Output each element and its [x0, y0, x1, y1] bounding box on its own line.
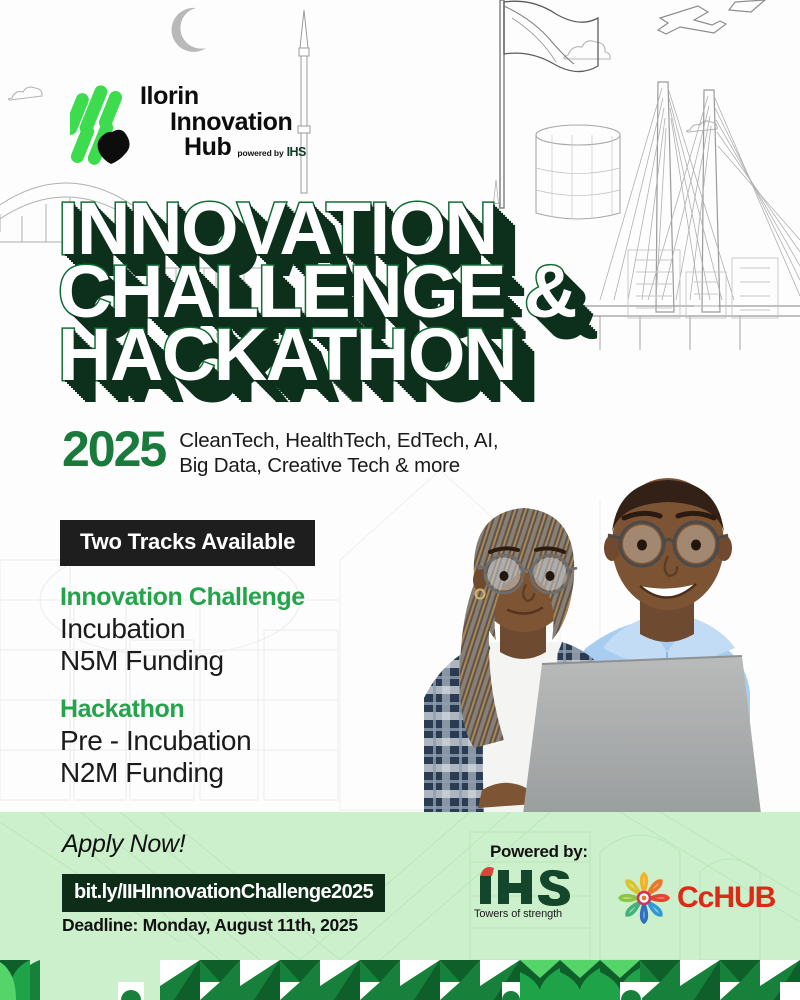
- city-buildings-line-art: [628, 250, 778, 318]
- track-stage: Pre - Incubation: [60, 725, 315, 758]
- logo-line-3: Hub: [184, 135, 231, 161]
- year-and-tagline: 2025 CleanTech, HealthTech, EdTech, AI, …: [62, 424, 498, 478]
- poster-canvas: Ilorin Innovation Hub powered by IHS INN…: [0, 0, 800, 1000]
- event-categories: CleanTech, HealthTech, EdTech, AI, Big D…: [179, 428, 498, 478]
- bottom-geometric-pattern: [0, 960, 800, 1000]
- ihs-logo: Towers of strength: [474, 866, 586, 920]
- ilorin-innovation-hub-mark-icon: [70, 82, 132, 174]
- event-year: 2025: [62, 424, 165, 474]
- laptop-icon: [522, 656, 762, 822]
- logo-powered-label: powered by: [237, 148, 283, 158]
- tracks-badge: Two Tracks Available: [60, 520, 315, 566]
- bridge-line-art: [556, 82, 800, 350]
- track-funding: N2M Funding: [60, 757, 315, 790]
- ihs-tagline: Towers of strength: [474, 908, 586, 920]
- cchub-flower-icon: [616, 872, 672, 924]
- powered-by-label: Powered by:: [490, 842, 588, 862]
- track-stage: Incubation: [60, 613, 315, 646]
- page-title: INNOVATION CHALLENGE & HACKATHON: [58, 196, 576, 387]
- brand-logo: Ilorin Innovation Hub powered by IHS: [70, 82, 306, 174]
- crescent-moon-icon: [172, 8, 206, 52]
- cchub-wordmark: CcHUB: [677, 881, 775, 915]
- logo-line-2: Innovation: [170, 110, 306, 136]
- cchub-logo: CcHUB: [616, 872, 775, 924]
- logo-powered-brand: IHS: [287, 145, 306, 159]
- headline-line-3: HACKATHON: [58, 322, 576, 387]
- track-name: Hackathon: [60, 695, 315, 725]
- footer-band: Apply Now! bit.ly/IIHInnovationChallenge…: [0, 812, 800, 960]
- track-item: Hackathon Pre - Incubation N2M Funding: [60, 695, 315, 790]
- track-funding: N5M Funding: [60, 645, 315, 678]
- sponsor-logos: Towers of strength: [474, 866, 775, 924]
- track-name: Innovation Challenge: [60, 583, 315, 613]
- track-item: Innovation Challenge Incubation N5M Fund…: [60, 583, 315, 678]
- participants-photo: [390, 452, 800, 822]
- logo-line-1: Ilorin: [140, 84, 306, 110]
- deadline-label: Deadline: Monday, August 11th, 2025: [62, 915, 358, 936]
- apply-now-label: Apply Now!: [62, 830, 185, 859]
- application-url-chip[interactable]: bit.ly/IIHInnovationChallenge2025: [62, 874, 385, 912]
- tagline-line-1: CleanTech, HealthTech, EdTech, AI,: [179, 428, 498, 453]
- flag-icon: [500, 0, 598, 208]
- tagline-line-2: Big Data, Creative Tech & more: [179, 453, 498, 478]
- tracks-section: Two Tracks Available Innovation Challeng…: [60, 520, 315, 790]
